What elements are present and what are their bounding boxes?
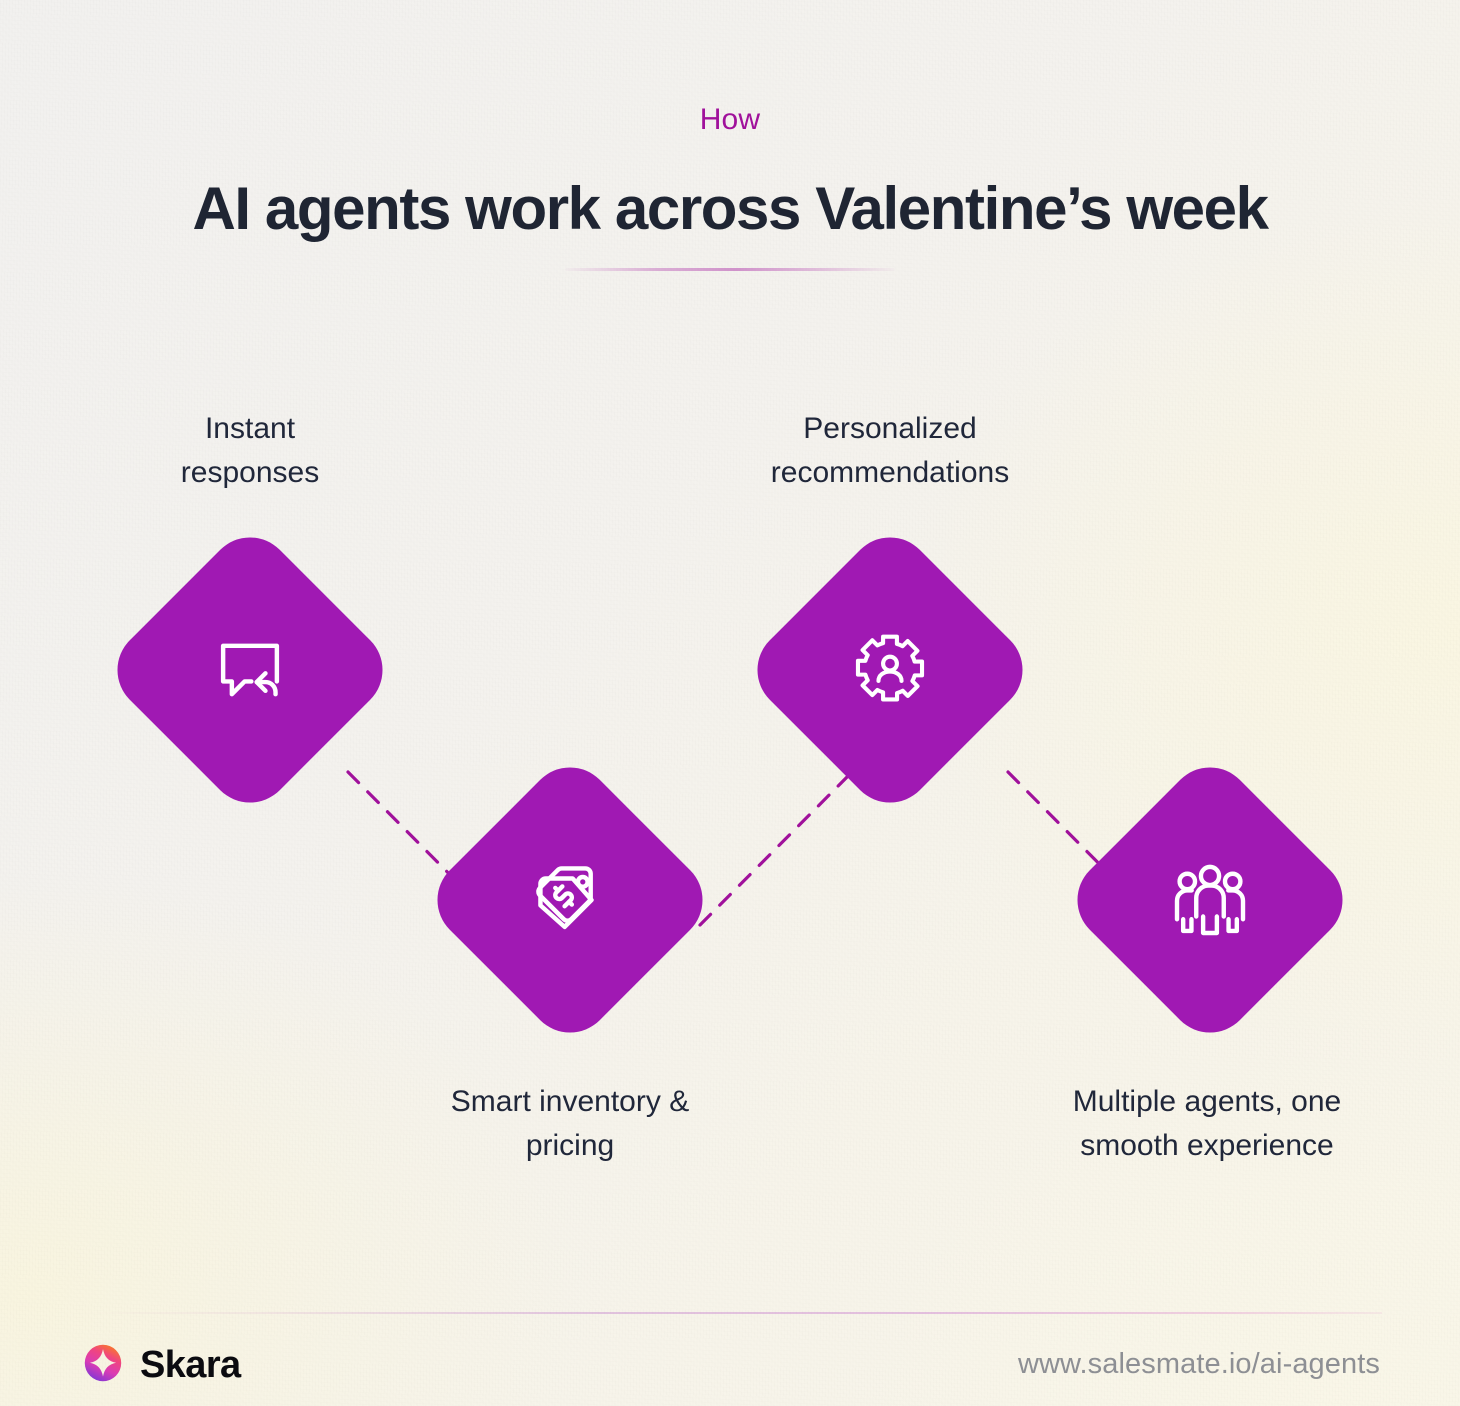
price-tag-icon xyxy=(527,857,613,943)
chat-reply-icon xyxy=(207,627,293,713)
gear-user-icon xyxy=(849,629,931,711)
brand-name: Skara xyxy=(140,1344,241,1387)
diamond-shape-3[interactable] xyxy=(740,520,1040,820)
node-label-1: Instant responses xyxy=(80,407,420,495)
diagram-area: Instant responses xyxy=(0,0,1460,1406)
connector-2-3 xyxy=(700,772,852,925)
diamond-shape-1[interactable] xyxy=(100,520,400,820)
infographic-canvas: How AI agents work across Valentine’s we… xyxy=(0,0,1460,1406)
node-label-3: Personalized recommendations xyxy=(720,407,1060,495)
node-label-4: Multiple agents, one smooth experience xyxy=(1022,1080,1392,1168)
brand-logo-group[interactable]: Skara xyxy=(80,1340,241,1391)
node-label-2: Smart inventory & pricing xyxy=(400,1080,740,1168)
footer-divider xyxy=(78,1312,1382,1314)
diamond-shape-4[interactable] xyxy=(1060,750,1360,1050)
skara-sparkle-logo xyxy=(80,1340,126,1391)
footer-url[interactable]: www.salesmate.io/ai-agents xyxy=(1018,1348,1380,1381)
diamond-shape-2[interactable] xyxy=(420,750,720,1050)
group-people-icon xyxy=(1166,856,1254,944)
